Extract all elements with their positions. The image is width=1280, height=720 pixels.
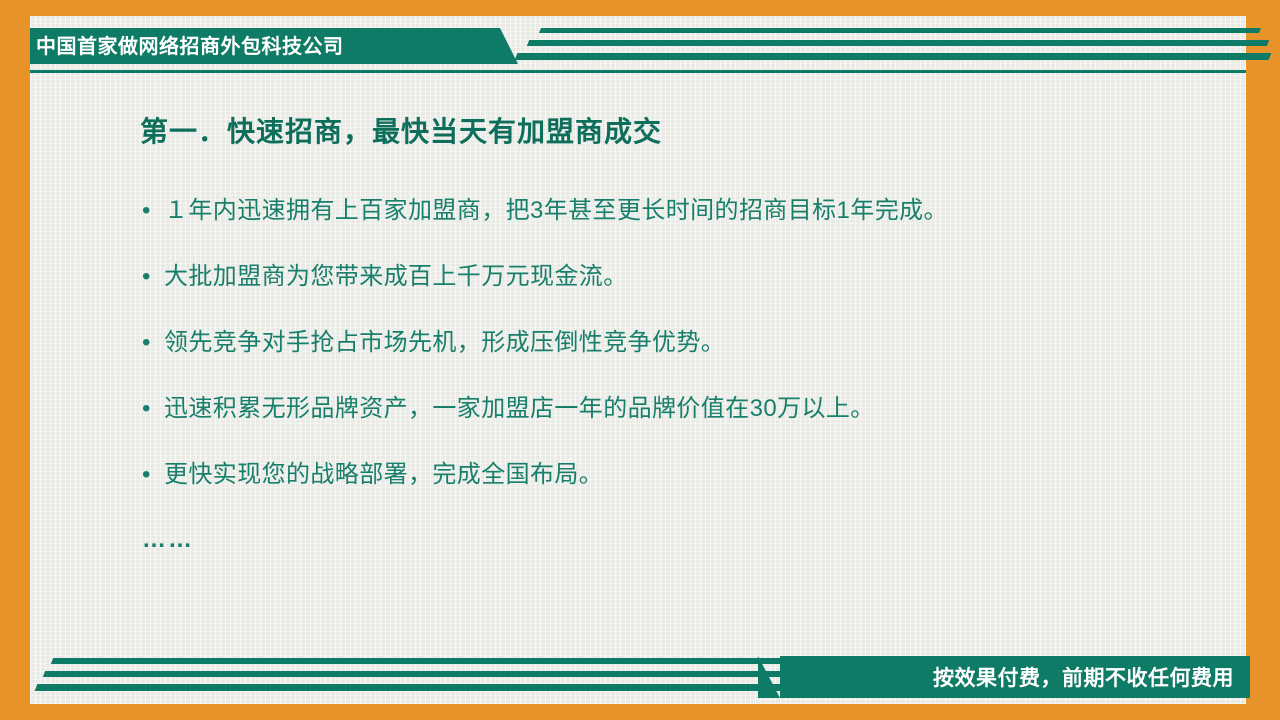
- header-decorative-stripes: [510, 22, 1270, 70]
- list-item: • 大批加盟商为您带来成百上千万元现金流。: [142, 262, 1246, 292]
- stripe-icon: [35, 684, 792, 691]
- stripe-icon: [527, 40, 1269, 46]
- list-item: • 领先竞争对手抢占市场先机，形成压倒性竞争优势。: [142, 328, 1246, 358]
- slide-content: 第一．快速招商，最快当天有加盟商成交 • １年内迅速拥有上百家加盟商，把3年甚至…: [30, 110, 1246, 554]
- stripe-icon: [515, 53, 1272, 60]
- continuation-ellipsis: ……: [142, 526, 1246, 554]
- list-item-text: 迅速积累无形品牌资产，一家加盟店一年的品牌价值在30万以上。: [164, 394, 875, 424]
- bullet-dot-icon: •: [142, 394, 164, 424]
- top-orange-band: [0, 0, 1280, 16]
- list-item: • 迅速积累无形品牌资产，一家加盟店一年的品牌价值在30万以上。: [142, 394, 1246, 424]
- bullet-dot-icon: •: [142, 196, 164, 226]
- bullet-dot-icon: •: [142, 328, 164, 358]
- list-item-text: 领先竞争对手抢占市场先机，形成压倒性竞争优势。: [164, 328, 725, 358]
- header-title: 中国首家做网络招商外包科技公司: [36, 34, 496, 60]
- footer-tagline: 按效果付费，前期不收任何费用: [933, 666, 1234, 692]
- slide: 中国首家做网络招商外包科技公司 第一．快速招商，最快当天有加盟商成交 • １年内…: [0, 0, 1280, 720]
- header-divider: [30, 70, 1246, 73]
- list-item: • １年内迅速拥有上百家加盟商，把3年甚至更长时间的招商目标1年完成。: [142, 196, 1246, 226]
- stripe-icon: [51, 658, 793, 664]
- stripe-icon: [43, 671, 793, 677]
- list-item-text: １年内迅速拥有上百家加盟商，把3年甚至更长时间的招商目标1年完成。: [164, 196, 948, 226]
- bottom-orange-band: [0, 704, 1280, 720]
- bullet-dot-icon: •: [142, 262, 164, 292]
- list-item: • 更快实现您的战略部署，完成全国布局。: [142, 460, 1246, 490]
- bullet-list: • １年内迅速拥有上百家加盟商，把3年甚至更长时间的招商目标1年完成。 • 大批…: [142, 196, 1246, 490]
- list-item-text: 大批加盟商为您带来成百上千万元现金流。: [164, 262, 628, 292]
- list-item-text: 更快实现您的战略部署，完成全国布局。: [164, 460, 603, 490]
- bullet-dot-icon: •: [142, 460, 164, 490]
- slide-footer: 按效果付费，前期不收任何费用: [0, 648, 1280, 702]
- footer-decorative-stripes: [30, 650, 770, 700]
- stripe-icon: [539, 28, 1261, 33]
- slide-header: 中国首家做网络招商外包科技公司: [0, 18, 1280, 70]
- page-title: 第一．快速招商，最快当天有加盟商成交: [140, 110, 1246, 150]
